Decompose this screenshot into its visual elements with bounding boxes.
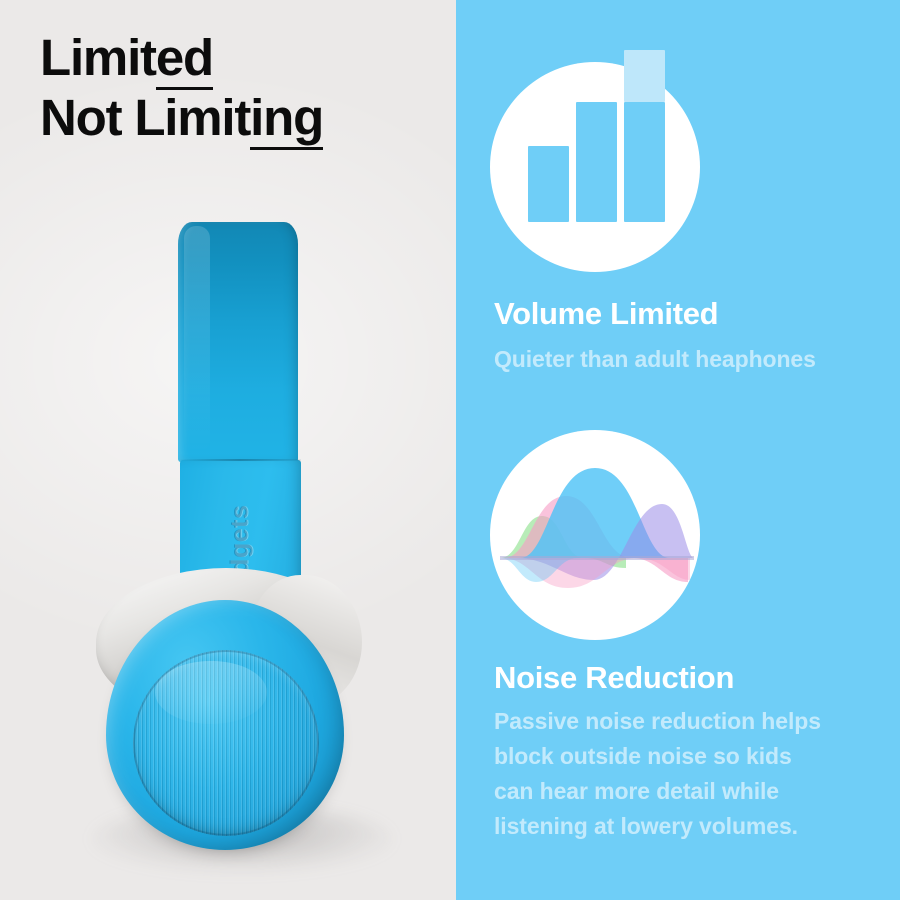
feature-title-noise-reduction: Noise Reduction <box>494 660 734 696</box>
feature-subtitle-line: listening at lowery volumes. <box>494 809 884 844</box>
feature-subtitle-line: Quieter than adult heaphones <box>494 342 884 377</box>
feature-subtitle-line: can hear more detail while <box>494 774 884 809</box>
feature-subtitle-noise-reduction: Passive noise reduction helps block outs… <box>494 704 884 844</box>
feature-subtitle-line: block outside noise so kids <box>494 739 884 774</box>
headline-line-2-plain: Not Limit <box>40 89 250 146</box>
headline-line-1-plain: Limit <box>40 29 156 86</box>
headband-seam <box>179 459 301 461</box>
bar-chart-bar-3-cap <box>624 50 665 102</box>
bar-chart-icon <box>490 62 700 272</box>
bar-chart-bar-2 <box>576 102 617 222</box>
sound-waveform-icon <box>490 430 700 640</box>
headline-line-1: Limited <box>40 28 323 88</box>
headline-line-2: Not Limiting <box>40 88 323 148</box>
product-feature-graphic: Limited Not Limiting lilgadgets <box>0 0 900 900</box>
page-title: Limited Not Limiting <box>40 28 323 148</box>
headline-line-1-underlined: ed <box>156 29 213 90</box>
waveform-baseline <box>500 556 694 560</box>
right-panel: Volume Limited Quieter than adult heapho… <box>456 0 900 900</box>
headband-upper <box>178 222 298 462</box>
bar-chart-bar-1 <box>528 146 569 222</box>
feature-title-volume-limited: Volume Limited <box>494 296 718 332</box>
ear-cup-metal-disc <box>133 650 319 836</box>
bar-chart-bar-3 <box>624 102 665 222</box>
feature-subtitle-line: Passive noise reduction helps <box>494 704 884 739</box>
left-panel: Limited Not Limiting lilgadgets <box>0 0 456 900</box>
headline-line-2-underlined: ing <box>250 89 323 150</box>
feature-subtitle-volume-limited: Quieter than adult heaphones <box>494 342 884 377</box>
